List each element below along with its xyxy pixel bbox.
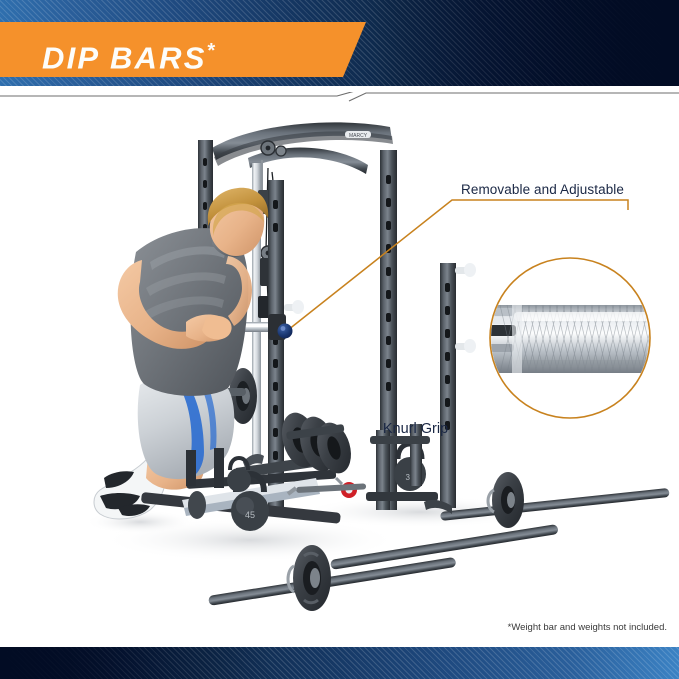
knurl-grip-label-text: Knurl Grip: [383, 421, 448, 437]
callout-marker-dot: [278, 324, 293, 339]
footer-stripe-fade: [0, 647, 679, 679]
footnote-disclaimer: *Weight bar and weights not included.: [508, 622, 667, 633]
footer-banner: [0, 647, 679, 679]
knurl-bar-illustration: [486, 305, 664, 373]
knurl-detail-circle: [486, 258, 664, 418]
dip-bar-callout-label: Removable and Adjustable: [461, 182, 624, 197]
product-feature-image: DIP BARS*: [0, 0, 679, 679]
callout-overlay: [0, 0, 679, 679]
knurl-grip-label: Knurl Grip: [0, 421, 679, 437]
